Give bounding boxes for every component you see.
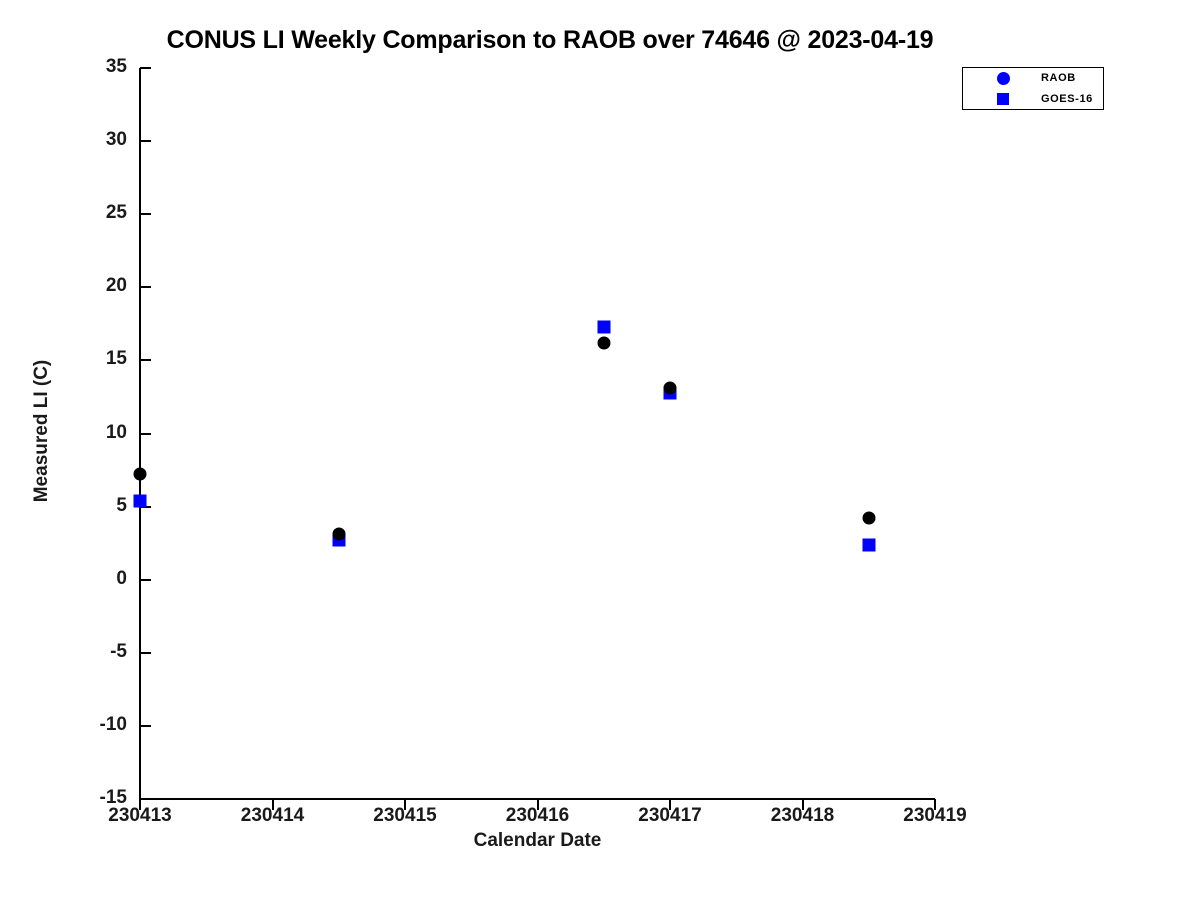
x-axis-tick-label: 230417 [638,805,701,827]
legend-circle-icon [997,72,1010,85]
legend-square-icon [997,93,1009,105]
y-axis-tick [140,725,151,727]
data-point-raob [862,512,875,525]
y-axis-tick-label: 0 [7,568,127,590]
y-axis-tick [140,140,151,142]
y-axis-label: Measured LI (C) [31,41,53,821]
y-axis-tick-label: 10 [7,422,127,444]
x-axis-tick-label: 230413 [108,805,171,827]
y-axis-tick [140,286,151,288]
y-axis-tick-label: 35 [7,56,127,78]
chart-legend: RAOBGOES-16 [962,67,1104,110]
legend-item-raob[interactable]: RAOB [963,68,1105,89]
legend-item-goes-16[interactable]: GOES-16 [963,89,1105,110]
y-axis-tick [140,213,151,215]
legend-marker-wrap [993,68,1013,89]
x-axis-tick-label: 230415 [373,805,436,827]
legend-marker-wrap [993,89,1013,110]
y-axis-tick [140,67,151,69]
y-axis-tick [140,798,151,800]
y-axis-tick [140,579,151,581]
y-axis-tick-label: -10 [7,714,127,736]
x-axis-tick-label: 230414 [241,805,304,827]
plot-area [140,68,935,799]
data-point-goes-16 [134,494,147,507]
y-axis-tick-label: 5 [7,495,127,517]
y-axis-tick [140,359,151,361]
chart-title: CONUS LI Weekly Comparison to RAOB over … [0,26,1100,55]
data-point-raob [664,382,677,395]
x-axis-tick-label: 230418 [771,805,834,827]
y-axis-tick-label: -5 [7,641,127,663]
data-point-raob [597,336,610,349]
x-axis-label: Calendar Date [140,830,935,852]
x-axis-tick-label: 230419 [903,805,966,827]
y-axis-tick-label: 30 [7,129,127,151]
data-point-raob [134,468,147,481]
legend-label: GOES-16 [1041,93,1093,105]
y-axis-tick [140,652,151,654]
y-axis-tick-label: 20 [7,275,127,297]
data-point-goes-16 [597,320,610,333]
x-axis-tick-label: 230416 [506,805,569,827]
legend-label: RAOB [1041,72,1076,84]
data-point-goes-16 [862,538,875,551]
data-point-raob [332,528,345,541]
y-axis-tick [140,433,151,435]
y-axis-tick-label: 25 [7,202,127,224]
y-axis-tick-label: 15 [7,348,127,370]
chart-figure: CONUS LI Weekly Comparison to RAOB over … [0,0,1200,900]
